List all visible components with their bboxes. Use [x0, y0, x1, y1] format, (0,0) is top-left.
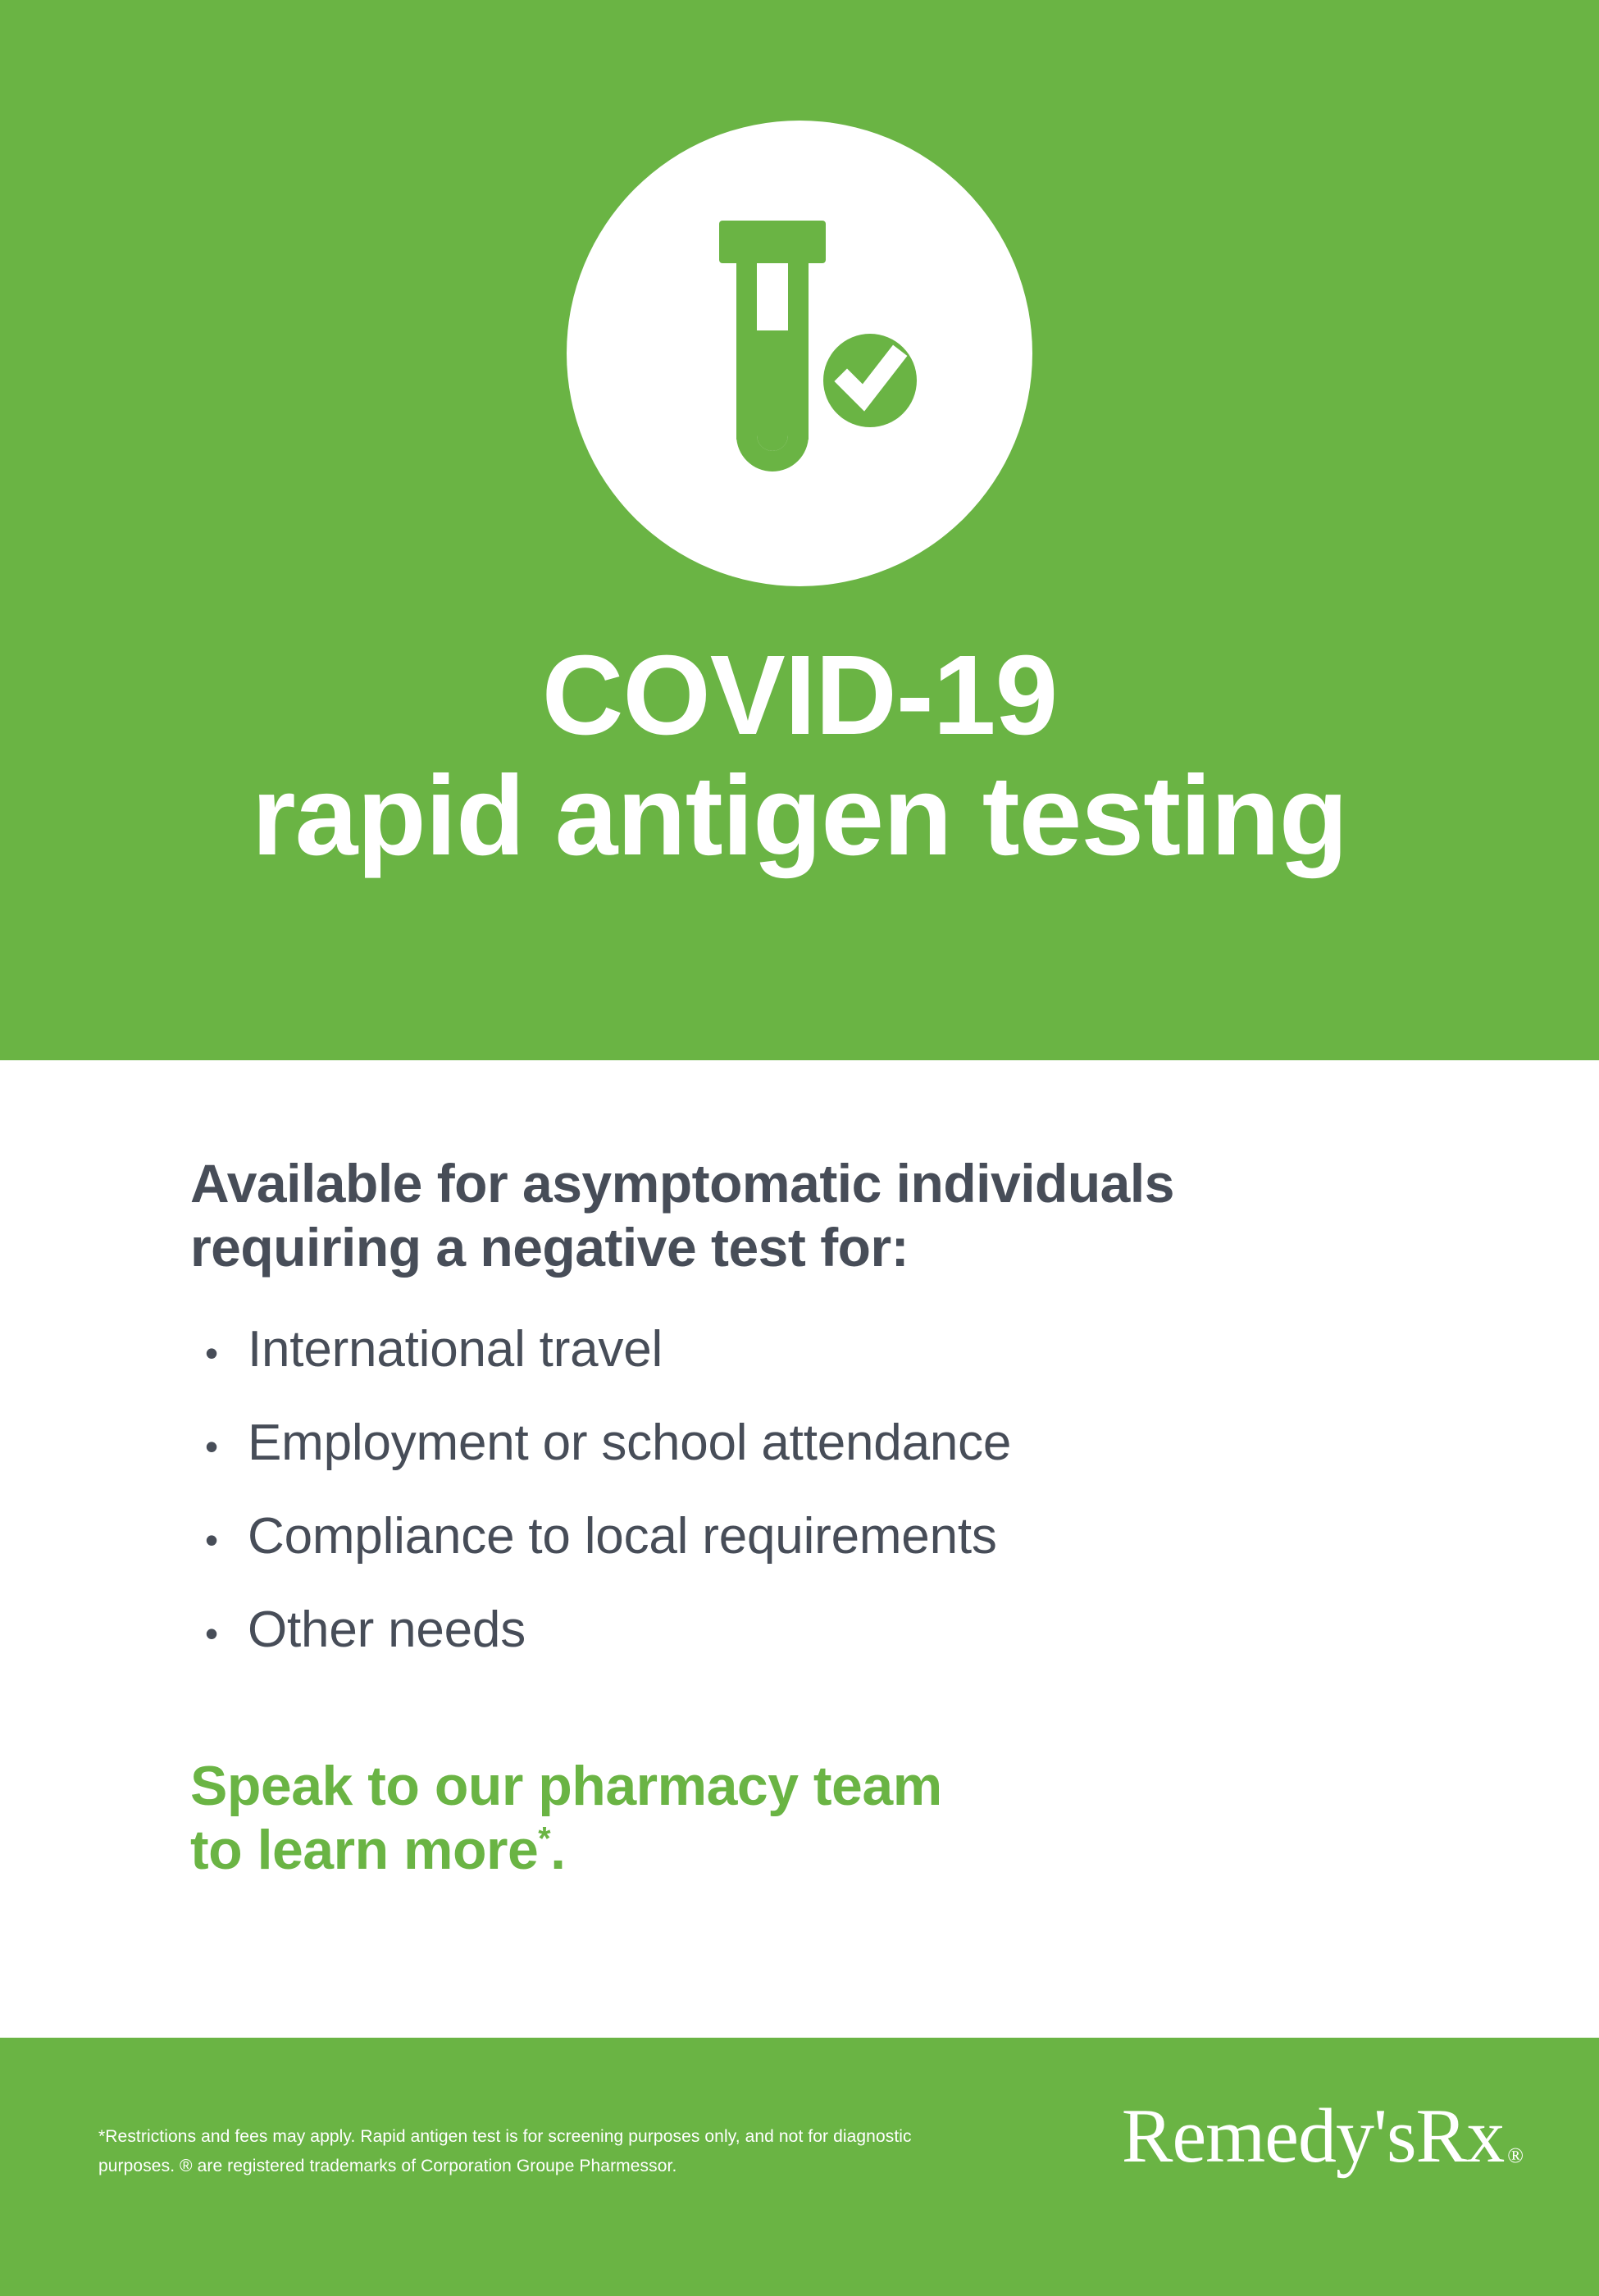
subhead-line-1: Available for asymptomatic individuals [190, 1152, 1410, 1216]
disclaimer-text: *Restrictions and fees may apply. Rapid … [98, 2122, 912, 2181]
bullet-icon: • [190, 1334, 248, 1372]
poster-root: COVID-19 rapid antigen testing Available… [0, 0, 1599, 2296]
list-item: • Other needs [190, 1605, 1410, 1656]
list-item: • Employment or school attendance [190, 1418, 1410, 1469]
brand-logo: Remedy'sRx ® [1122, 2098, 1550, 2175]
disclaimer-line-1: *Restrictions and fees may apply. Rapid … [98, 2122, 912, 2152]
header-banner: COVID-19 rapid antigen testing [0, 0, 1599, 1060]
list-item-label: Employment or school attendance [248, 1418, 1410, 1469]
list-item-label: International travel [248, 1324, 1410, 1375]
subhead-line-2: requiring a negative test for: [190, 1216, 1410, 1280]
cta-line-1: Speak to our pharmacy team [190, 1754, 1410, 1818]
bullet-icon: • [190, 1428, 248, 1465]
list-item: • International travel [190, 1324, 1410, 1375]
list-item-label: Other needs [248, 1605, 1410, 1656]
registered-trademark-icon: ® [1504, 2145, 1524, 2175]
bullet-icon: • [190, 1521, 248, 1559]
disclaimer-line-2: purposes. ® are registered trademarks of… [98, 2152, 912, 2181]
eligibility-list: • International travel • Employment or s… [190, 1324, 1410, 1656]
footer-banner: *Restrictions and fees may apply. Rapid … [0, 2038, 1599, 2296]
brand-wordmark: Remedy'sRx [1122, 2098, 1504, 2175]
cta-period: . [550, 1819, 565, 1881]
list-item: • Compliance to local requirements [190, 1511, 1410, 1562]
headline-line-1: COVID-19 [0, 637, 1599, 755]
cta-line-2: to learn more*. [190, 1818, 1410, 1882]
body-content: Available for asymptomatic individuals r… [0, 1060, 1599, 2038]
subhead: Available for asymptomatic individuals r… [190, 1152, 1410, 1280]
test-tube-check-icon [567, 121, 1032, 586]
cta-footnote-asterisk: * [538, 1820, 550, 1856]
cta-line-2-text: to learn more [190, 1819, 538, 1881]
headline-line-2: rapid antigen testing [0, 755, 1599, 877]
bullet-icon: • [190, 1615, 248, 1652]
headline-block: COVID-19 rapid antigen testing [0, 637, 1599, 877]
list-item-label: Compliance to local requirements [248, 1511, 1410, 1562]
call-to-action: Speak to our pharmacy team to learn more… [190, 1754, 1410, 1882]
